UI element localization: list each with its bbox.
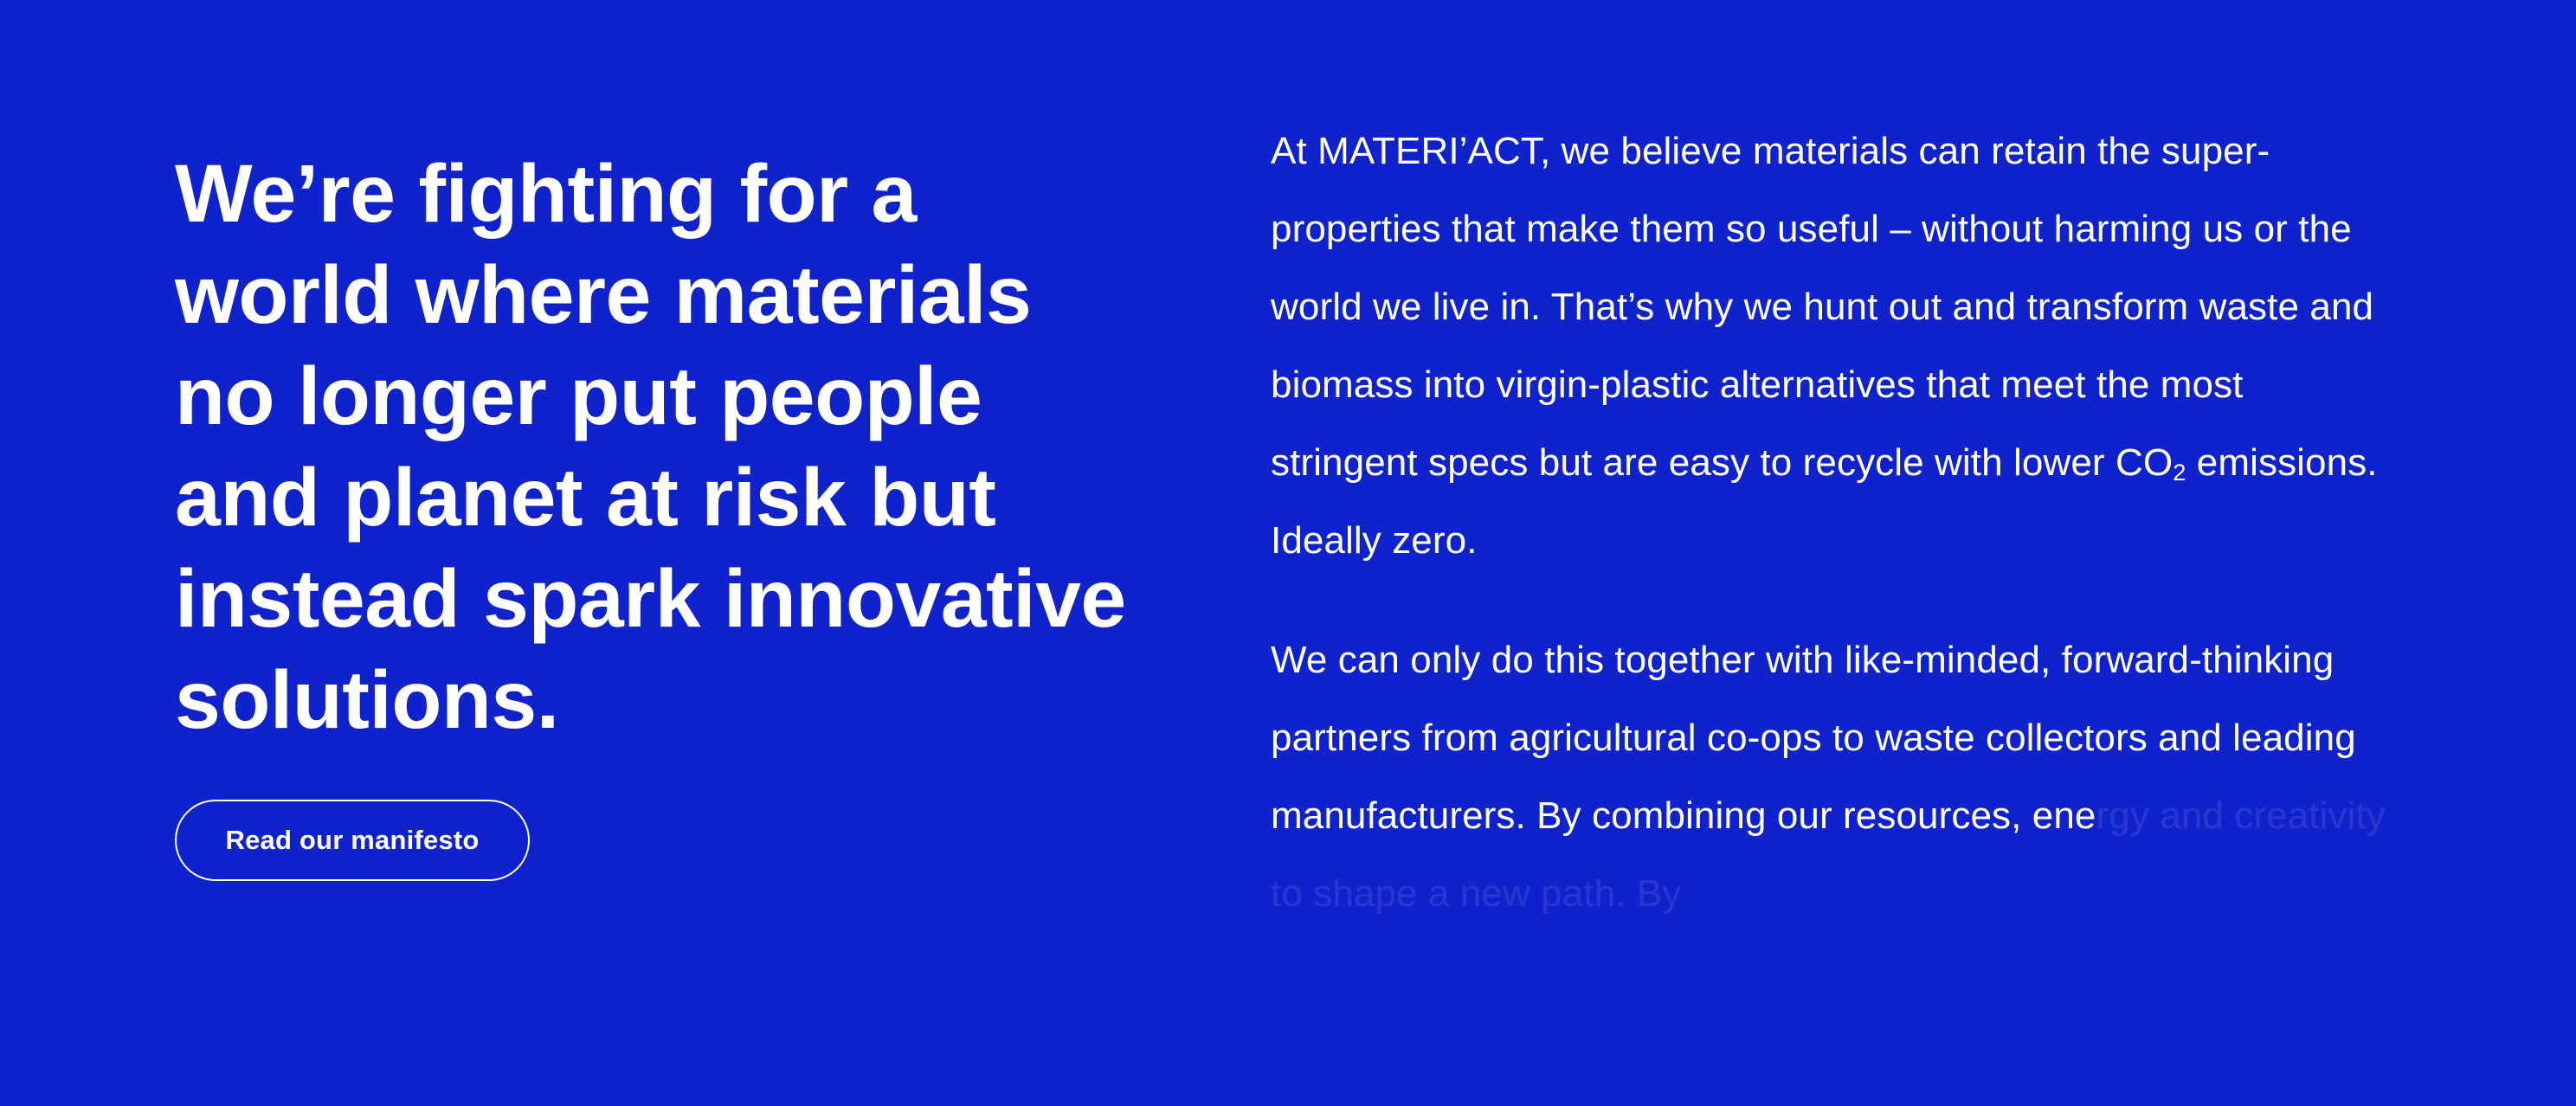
page-title: We’re fighting for a world where materia… — [175, 144, 1144, 751]
co2-subscript: 2 — [2173, 459, 2186, 485]
body-paragraph-1: At MATERI’ACT, we believe materials can … — [1271, 113, 2396, 580]
read-manifesto-button[interactable]: Read our manifesto — [175, 800, 530, 881]
body-paragraph-2: We can only do this together with like-m… — [1271, 621, 2396, 933]
hero-left-column: We’re fighting for a world where materia… — [175, 144, 1144, 881]
paragraph-1-revealed-text: At MATERI’ACT, we believe materials can … — [1271, 130, 2373, 484]
hero-right-column: At MATERI’ACT, we believe materials can … — [1271, 113, 2396, 933]
manifesto-hero-section: We’re fighting for a world where materia… — [0, 0, 2576, 1106]
